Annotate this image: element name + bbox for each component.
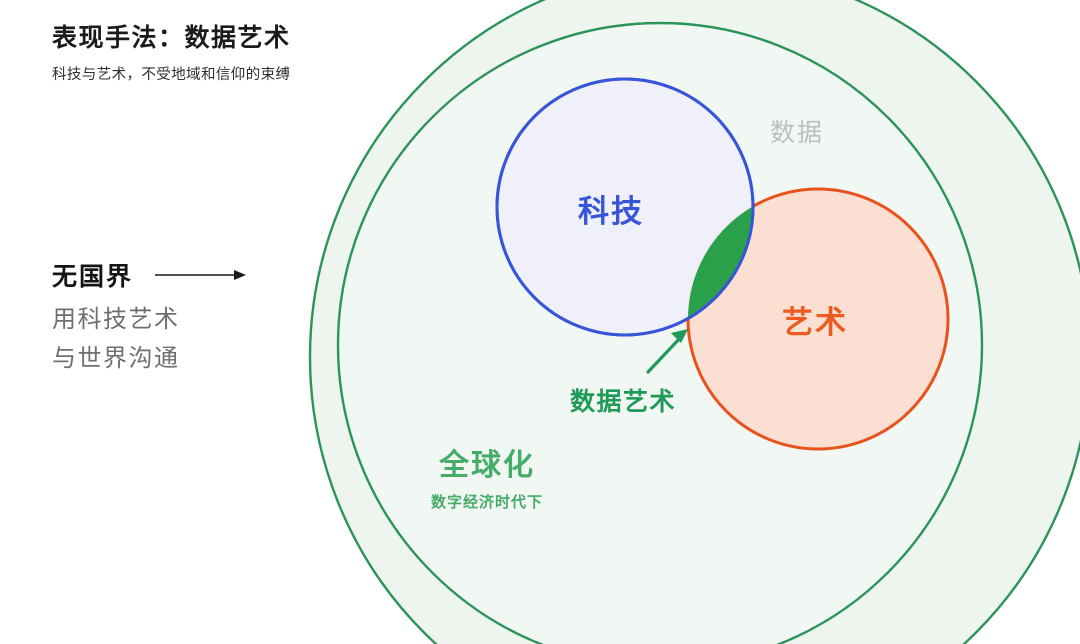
side-note-line-1: 用科技艺术 bbox=[52, 301, 342, 338]
header-block: 表现手法：数据艺术 科技与艺术，不受地域和信仰的束缚 bbox=[52, 22, 372, 85]
side-note-heading-row: 无国界 bbox=[52, 258, 342, 292]
page-title: 表现手法：数据艺术 bbox=[52, 22, 372, 55]
page-subtitle: 科技与艺术，不受地域和信仰的束缚 bbox=[52, 65, 372, 85]
arrow-right-icon bbox=[155, 268, 247, 282]
side-note-line-2: 与世界沟通 bbox=[52, 340, 342, 377]
venn-diagram-slide: 表现手法：数据艺术 科技与艺术，不受地域和信仰的束缚 无国界 用科技艺术 与世界… bbox=[0, 0, 1080, 644]
side-note-heading: 无国界 bbox=[52, 257, 133, 293]
side-note-block: 无国界 用科技艺术 与世界沟通 bbox=[52, 258, 342, 377]
